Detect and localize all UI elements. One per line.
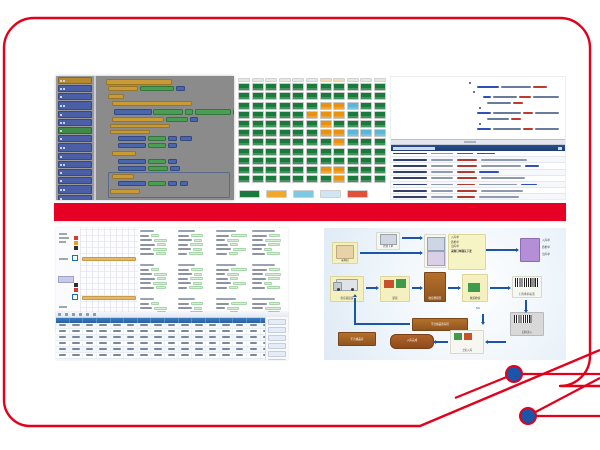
field-value[interactable]	[153, 282, 167, 285]
field-value[interactable]	[154, 239, 167, 242]
rack-cell[interactable]	[238, 92, 250, 100]
field-value[interactable]	[268, 277, 280, 280]
table-cell[interactable]	[83, 341, 97, 346]
table-cell[interactable]	[179, 335, 193, 340]
rack-cell[interactable]	[374, 102, 386, 110]
field-value[interactable]	[156, 252, 166, 255]
rack-cell[interactable]	[333, 166, 345, 174]
rack-cell[interactable]	[265, 129, 277, 137]
rack-cell[interactable]	[347, 111, 359, 119]
rack-cell[interactable]	[265, 148, 277, 156]
rack-cell[interactable]	[252, 92, 264, 100]
flow-node-rejectwh[interactable]: 不合格品库	[338, 332, 376, 346]
palette-block[interactable]	[58, 93, 92, 100]
table-cell[interactable]	[97, 359, 111, 361]
panel-data-table[interactable]	[56, 312, 288, 360]
rack-cell[interactable]	[374, 157, 386, 165]
field-value[interactable]	[230, 243, 238, 246]
parameter-field[interactable]	[216, 239, 250, 242]
rack-cell[interactable]	[333, 120, 345, 128]
rack-cell[interactable]	[265, 83, 277, 91]
table-cell[interactable]	[247, 329, 261, 334]
rack-cell[interactable]	[333, 138, 345, 146]
rack-cell[interactable]	[265, 166, 277, 174]
field-value[interactable]	[264, 282, 272, 285]
gantt-marker[interactable]	[74, 288, 78, 292]
field-value[interactable]	[191, 234, 203, 237]
field-value[interactable]	[153, 248, 167, 251]
save-icon[interactable]	[65, 313, 68, 316]
rack-cell[interactable]	[292, 157, 304, 165]
table-cell[interactable]	[138, 353, 152, 358]
table-cell[interactable]	[124, 347, 138, 352]
table-cell[interactable]	[97, 353, 111, 358]
rack-cell[interactable]	[265, 138, 277, 146]
blockly-workspace[interactable]	[96, 76, 234, 200]
rack-cell[interactable]	[252, 102, 264, 110]
rack-cell[interactable]	[306, 92, 318, 100]
rack-cell[interactable]	[374, 111, 386, 119]
palette-block[interactable]	[58, 119, 92, 126]
parameter-field[interactable]	[252, 268, 286, 271]
rack-cell[interactable]	[279, 129, 291, 137]
parameter-field[interactable]	[140, 234, 174, 237]
parameter-field[interactable]	[140, 243, 174, 246]
log-row-list[interactable]	[391, 151, 565, 199]
table-cell[interactable]	[220, 335, 234, 340]
table-cell[interactable]	[233, 329, 247, 334]
parameter-field[interactable]	[140, 273, 174, 276]
parameter-field[interactable]	[216, 286, 250, 289]
rack-cell[interactable]	[360, 166, 372, 174]
field-value[interactable]	[231, 234, 247, 237]
rack-cell[interactable]	[320, 148, 332, 156]
table-cell[interactable]	[138, 323, 152, 328]
field-value[interactable]	[227, 239, 239, 242]
rack-cell[interactable]	[306, 111, 318, 119]
rack-cell[interactable]	[238, 129, 250, 137]
table-cell[interactable]	[83, 323, 97, 328]
table-cell[interactable]	[247, 323, 261, 328]
rack-cell[interactable]	[306, 102, 318, 110]
table-cell[interactable]	[165, 359, 179, 361]
side-action-button[interactable]	[268, 351, 286, 357]
rack-cell[interactable]	[347, 83, 359, 91]
table-cell[interactable]	[151, 323, 165, 328]
field-value[interactable]	[193, 282, 202, 285]
field-value[interactable]	[227, 307, 239, 310]
block-setter[interactable]	[118, 136, 146, 141]
log-row[interactable]	[391, 194, 565, 200]
table-cell[interactable]	[247, 335, 261, 340]
rack-cell[interactable]	[279, 148, 291, 156]
parameter-field[interactable]	[178, 243, 212, 246]
side-action-button[interactable]	[268, 319, 286, 325]
table-cell[interactable]	[151, 353, 165, 358]
table-cell[interactable]	[165, 323, 179, 328]
table-cell[interactable]	[179, 341, 193, 346]
table-cell[interactable]	[124, 323, 138, 328]
table-cell[interactable]	[124, 359, 138, 361]
block-value[interactable]	[233, 109, 234, 115]
table-cell[interactable]	[70, 353, 84, 358]
field-value[interactable]	[229, 252, 238, 255]
panel-logistics-flow[interactable]: 采购员 计划下单 入库单 质检单 出库单 采购订单确认下发 入库单 质检单 出库…	[324, 228, 566, 360]
block-setter[interactable]	[118, 143, 146, 148]
gantt-bar[interactable]	[82, 257, 136, 261]
parameter-group[interactable]	[140, 230, 174, 257]
gantt-marker[interactable]	[74, 246, 78, 250]
rack-cell[interactable]	[265, 92, 277, 100]
toolbar-chip[interactable]	[58, 276, 74, 283]
field-value[interactable]	[189, 286, 203, 289]
rack-cell[interactable]	[252, 111, 264, 119]
table-cell[interactable]	[192, 341, 206, 346]
table-cell[interactable]	[111, 359, 125, 361]
rack-grid[interactable]	[238, 78, 386, 184]
table-cell[interactable]	[111, 335, 125, 340]
rack-cell[interactable]	[347, 120, 359, 128]
rack-cell[interactable]	[374, 148, 386, 156]
field-value[interactable]	[157, 243, 166, 246]
parameter-field[interactable]	[252, 286, 286, 289]
rack-cell[interactable]	[252, 148, 264, 156]
table-cell[interactable]	[247, 353, 261, 358]
parameter-field[interactable]	[216, 268, 250, 271]
rack-cell[interactable]	[374, 138, 386, 146]
table-row[interactable]	[56, 359, 288, 361]
table-cell[interactable]	[97, 341, 111, 346]
parameter-field[interactable]	[216, 302, 250, 305]
block-setter[interactable]	[118, 159, 146, 164]
rack-cell[interactable]	[252, 175, 264, 183]
rack-cell[interactable]	[360, 83, 372, 91]
table-cell[interactable]	[111, 329, 125, 334]
rack-cell[interactable]	[252, 129, 264, 137]
block-value[interactable]	[166, 117, 188, 122]
table-cell[interactable]	[179, 359, 193, 361]
rack-cell[interactable]	[265, 175, 277, 183]
rack-cell[interactable]	[292, 175, 304, 183]
parameter-field[interactable]	[178, 239, 212, 242]
table-cell[interactable]	[97, 323, 111, 328]
rack-cell[interactable]	[320, 102, 332, 110]
table-cell[interactable]	[56, 347, 70, 352]
table-cell[interactable]	[111, 341, 125, 346]
parameter-field[interactable]	[178, 282, 212, 285]
block-value[interactable]	[185, 109, 193, 115]
field-value[interactable]	[154, 307, 167, 310]
parameter-field[interactable]	[178, 302, 212, 305]
table-cell[interactable]	[151, 347, 165, 352]
parameter-field[interactable]	[216, 243, 250, 246]
rack-cell[interactable]	[347, 148, 359, 156]
field-value[interactable]	[189, 252, 203, 255]
table-cell[interactable]	[247, 341, 261, 346]
parameter-field[interactable]	[252, 248, 286, 251]
block-statement[interactable]	[108, 86, 138, 91]
palette-block[interactable]	[58, 195, 92, 200]
parameter-field[interactable]	[140, 268, 174, 271]
block-statement[interactable]	[110, 130, 150, 134]
rack-cell[interactable]	[292, 166, 304, 174]
table-cell[interactable]	[206, 329, 220, 334]
rack-cell[interactable]	[279, 157, 291, 165]
rack-cell[interactable]	[347, 92, 359, 100]
table-side-actions[interactable]	[265, 317, 288, 361]
table-cell[interactable]	[220, 323, 234, 328]
rack-cell[interactable]	[279, 166, 291, 174]
parameter-field[interactable]	[252, 234, 286, 237]
parameter-group[interactable]	[216, 230, 250, 257]
table-cell[interactable]	[179, 323, 193, 328]
field-value[interactable]	[233, 248, 246, 251]
rack-cell[interactable]	[306, 138, 318, 146]
table-cell[interactable]	[192, 347, 206, 352]
table-cell[interactable]	[220, 329, 234, 334]
palette-block[interactable]	[58, 135, 92, 142]
parameter-field[interactable]	[178, 286, 212, 289]
table-cell[interactable]	[124, 341, 138, 346]
rack-body[interactable]	[238, 83, 386, 183]
rack-cell[interactable]	[333, 129, 345, 137]
table-cell[interactable]	[233, 359, 247, 361]
rack-cell[interactable]	[360, 120, 372, 128]
palette-block[interactable]	[58, 77, 92, 84]
rack-cell[interactable]	[252, 138, 264, 146]
palette-block[interactable]	[58, 143, 92, 152]
block-value[interactable]	[140, 86, 174, 91]
rack-cell[interactable]	[320, 157, 332, 165]
field-value[interactable]	[151, 268, 159, 271]
field-value[interactable]	[190, 243, 203, 246]
code-editor[interactable]	[391, 77, 565, 139]
rack-cell[interactable]	[320, 129, 332, 137]
table-cell[interactable]	[138, 335, 152, 340]
rack-cell[interactable]	[360, 111, 372, 119]
rack-cell[interactable]	[320, 83, 332, 91]
parameter-group[interactable]	[216, 264, 250, 291]
block-value[interactable]	[148, 159, 166, 164]
rack-cell[interactable]	[320, 92, 332, 100]
rack-cell[interactable]	[306, 120, 318, 128]
field-value[interactable]	[268, 243, 280, 246]
rack-cell[interactable]	[292, 83, 304, 91]
parameter-field[interactable]	[178, 234, 212, 237]
parameter-field[interactable]	[252, 239, 286, 242]
panel-code-and-log[interactable]	[390, 76, 566, 200]
rack-cell[interactable]	[238, 120, 250, 128]
table-cell[interactable]	[124, 353, 138, 358]
rack-cell[interactable]	[374, 129, 386, 137]
rack-cell[interactable]	[265, 102, 277, 110]
parameter-group[interactable]	[178, 264, 212, 291]
palette-block[interactable]	[58, 161, 92, 168]
table-cell[interactable]	[70, 341, 84, 346]
rack-cell[interactable]	[238, 175, 250, 183]
rack-cell[interactable]	[374, 175, 386, 183]
table-cell[interactable]	[192, 323, 206, 328]
field-value[interactable]	[231, 302, 247, 305]
rack-cell[interactable]	[279, 120, 291, 128]
rack-cell[interactable]	[265, 157, 277, 165]
field-value[interactable]	[227, 273, 239, 276]
table-cell[interactable]	[97, 335, 111, 340]
rack-cell[interactable]	[306, 166, 318, 174]
rack-cell[interactable]	[360, 175, 372, 183]
rack-cell[interactable]	[265, 111, 277, 119]
table-cell[interactable]	[111, 353, 125, 358]
rack-cell[interactable]	[292, 111, 304, 119]
table-cell[interactable]	[138, 347, 152, 352]
parameter-field[interactable]	[252, 277, 286, 280]
rack-cell[interactable]	[292, 148, 304, 156]
field-value[interactable]	[151, 234, 159, 237]
flow-note-documents[interactable]: 入库单 质检单 出库单 采购订单确认下发	[448, 234, 486, 270]
table-cell[interactable]	[70, 347, 84, 352]
parameter-field[interactable]	[178, 277, 212, 280]
block-field[interactable]	[168, 143, 177, 148]
rack-cell[interactable]	[265, 120, 277, 128]
parameter-field[interactable]	[140, 307, 174, 310]
block-value[interactable]	[148, 143, 166, 148]
field-value[interactable]	[269, 268, 280, 271]
table-cell[interactable]	[83, 335, 97, 340]
gantt-bar[interactable]	[82, 296, 136, 300]
field-value[interactable]	[265, 239, 281, 242]
table-cell[interactable]	[247, 347, 261, 352]
table-cell[interactable]	[97, 347, 111, 352]
side-action-button[interactable]	[268, 327, 286, 333]
rack-cell[interactable]	[238, 157, 250, 165]
flow-node-done[interactable]: 入库完成	[390, 334, 434, 349]
palette-block[interactable]	[58, 153, 92, 160]
table-cell[interactable]	[83, 353, 97, 358]
rack-cell[interactable]	[252, 83, 264, 91]
block-value[interactable]	[195, 109, 231, 115]
new-icon[interactable]	[58, 313, 61, 316]
table-cell[interactable]	[151, 335, 165, 340]
table-cell[interactable]	[151, 359, 165, 361]
table-cell[interactable]	[70, 335, 84, 340]
table-cell[interactable]	[233, 323, 247, 328]
parameter-field[interactable]	[140, 277, 174, 280]
table-cell[interactable]	[192, 329, 206, 334]
table-cell[interactable]	[111, 323, 125, 328]
block-field[interactable]	[180, 136, 192, 141]
rack-cell[interactable]	[238, 102, 250, 110]
table-cell[interactable]	[70, 359, 84, 361]
parameter-field[interactable]	[178, 268, 212, 271]
field-value[interactable]	[230, 277, 238, 280]
table-cell[interactable]	[138, 359, 152, 361]
palette-block[interactable]	[58, 111, 92, 118]
parameter-group[interactable]	[252, 264, 286, 291]
block-statement[interactable]	[112, 117, 164, 122]
table-cell[interactable]	[179, 353, 193, 358]
field-value[interactable]	[264, 248, 272, 251]
gantt-marker[interactable]	[74, 236, 78, 240]
rack-cell[interactable]	[252, 157, 264, 165]
rack-cell[interactable]	[333, 102, 345, 110]
table-cell[interactable]	[165, 353, 179, 358]
table-cell[interactable]	[138, 341, 152, 346]
table-cell[interactable]	[192, 359, 206, 361]
field-value[interactable]	[233, 282, 246, 285]
table-cell[interactable]	[56, 323, 70, 328]
table-cell[interactable]	[206, 335, 220, 340]
side-action-button[interactable]	[268, 343, 286, 349]
rack-cell[interactable]	[279, 111, 291, 119]
table-cell[interactable]	[233, 341, 247, 346]
block-statement[interactable]	[110, 124, 170, 128]
rack-cell[interactable]	[292, 102, 304, 110]
rack-cell[interactable]	[333, 157, 345, 165]
field-value[interactable]	[151, 302, 159, 305]
block-event[interactable]	[106, 79, 172, 85]
blockly-palette[interactable]	[56, 76, 96, 200]
table-cell[interactable]	[220, 353, 234, 358]
field-value[interactable]	[191, 268, 203, 271]
field-value[interactable]	[193, 248, 202, 251]
table-cell[interactable]	[206, 347, 220, 352]
field-value[interactable]	[269, 302, 280, 305]
parameter-field[interactable]	[216, 273, 250, 276]
rack-cell[interactable]	[306, 129, 318, 137]
rack-cell[interactable]	[333, 148, 345, 156]
table-cell[interactable]	[233, 353, 247, 358]
rack-cell[interactable]	[279, 175, 291, 183]
rack-cell[interactable]	[292, 129, 304, 137]
rack-cell[interactable]	[333, 92, 345, 100]
table-cell[interactable]	[220, 341, 234, 346]
rack-cell[interactable]	[347, 138, 359, 146]
parameter-field[interactable]	[140, 248, 174, 251]
parameter-field[interactable]	[216, 252, 250, 255]
parameter-field[interactable]	[216, 248, 250, 251]
rack-cell[interactable]	[238, 83, 250, 91]
rack-cell[interactable]	[360, 138, 372, 146]
palette-block[interactable]	[58, 185, 92, 194]
parameter-field[interactable]	[178, 252, 212, 255]
rack-cell[interactable]	[238, 166, 250, 174]
parameter-field[interactable]	[216, 234, 250, 237]
rack-cell[interactable]	[279, 83, 291, 91]
parameter-group[interactable]	[178, 230, 212, 257]
block-statement[interactable]	[112, 151, 136, 156]
table-cell[interactable]	[111, 347, 125, 352]
parameter-field[interactable]	[252, 252, 286, 255]
block-statement[interactable]	[112, 101, 192, 106]
table-cell[interactable]	[192, 335, 206, 340]
parameter-group[interactable]	[140, 264, 174, 291]
rack-cell[interactable]	[292, 92, 304, 100]
gantt-node[interactable]	[72, 255, 78, 261]
table-cell[interactable]	[56, 329, 70, 334]
rack-cell[interactable]	[306, 83, 318, 91]
parameter-field[interactable]	[252, 243, 286, 246]
parameter-field[interactable]	[252, 273, 286, 276]
field-value[interactable]	[269, 234, 280, 237]
rack-cell[interactable]	[320, 120, 332, 128]
rack-cell[interactable]	[360, 92, 372, 100]
rack-cell[interactable]	[306, 175, 318, 183]
field-value[interactable]	[229, 286, 238, 289]
rack-cell[interactable]	[333, 83, 345, 91]
parameter-field[interactable]	[140, 252, 174, 255]
table-cell[interactable]	[70, 323, 84, 328]
parameter-field[interactable]	[216, 307, 250, 310]
